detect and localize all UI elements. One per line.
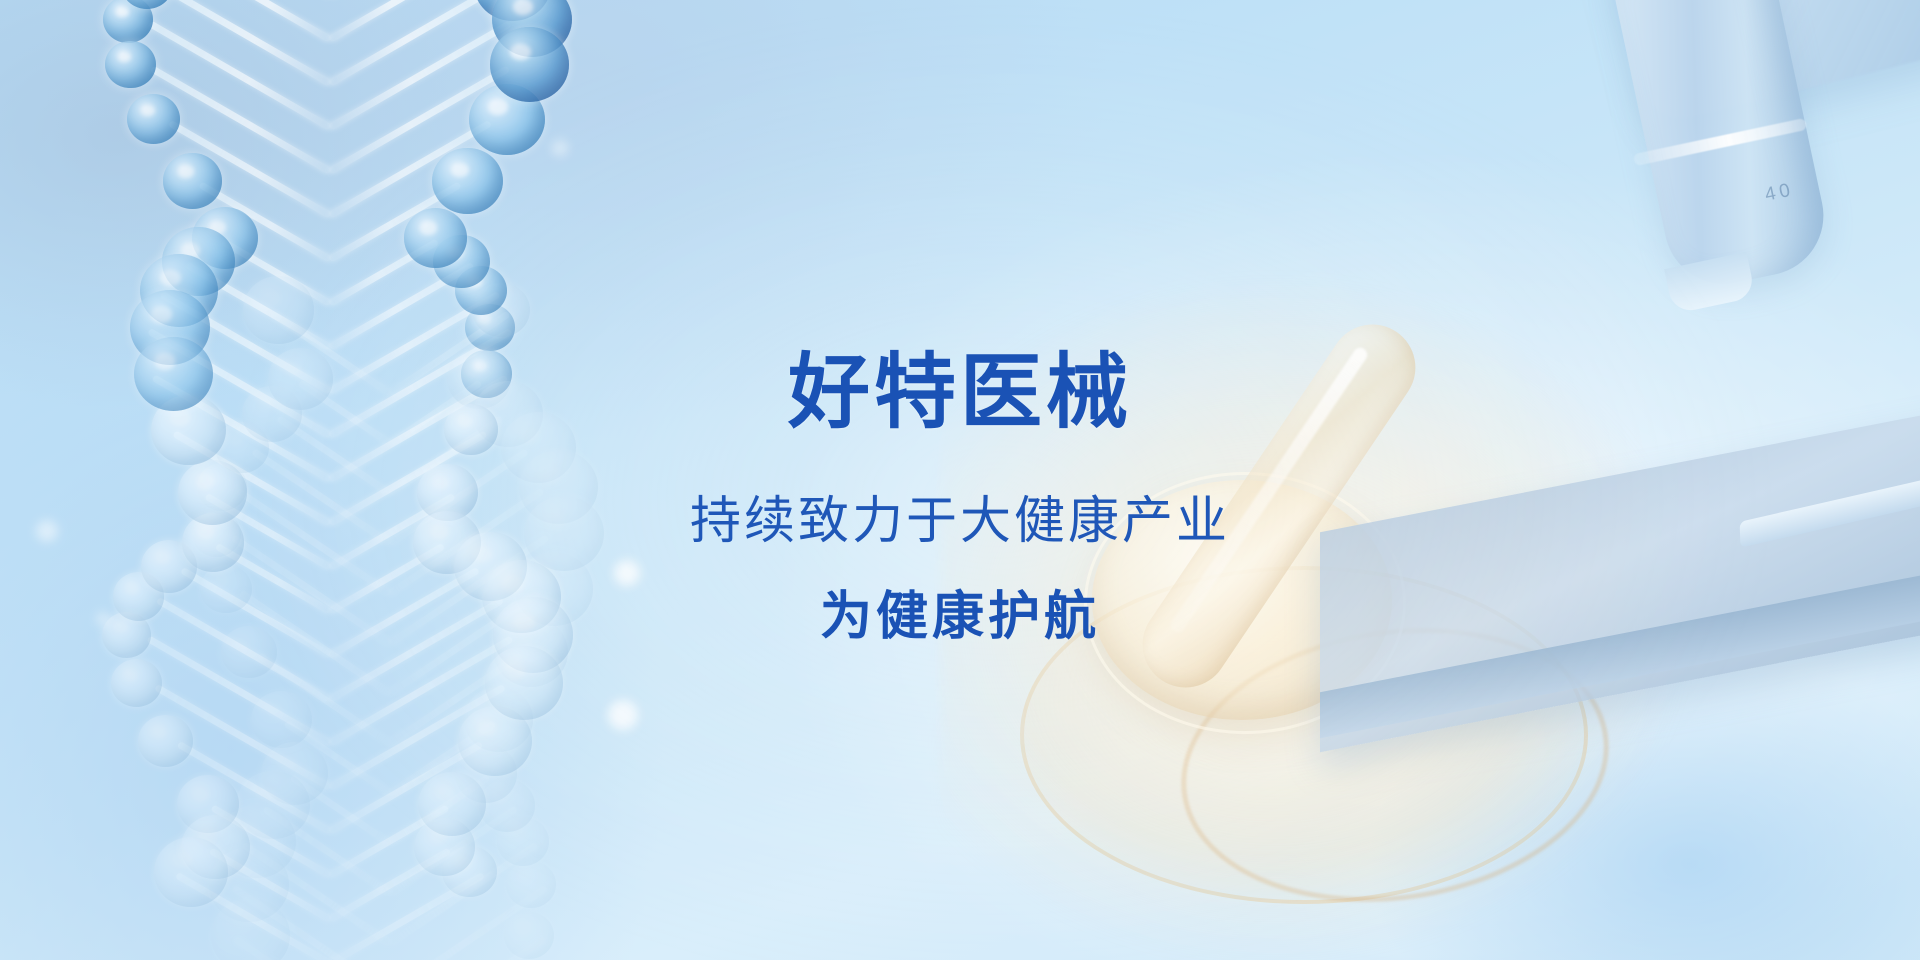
dna-bead bbox=[404, 208, 467, 268]
dna-bead bbox=[490, 27, 569, 102]
hero-banner: 40 好特医械 持续致力于大健康产业 为健康护航 bbox=[0, 0, 1920, 960]
dna-bead bbox=[243, 276, 315, 343]
dna-rung bbox=[328, 0, 469, 43]
bokeh-dot bbox=[552, 140, 568, 156]
hero-subtitle: 持续致力于大健康产业 bbox=[0, 496, 1920, 547]
hero-copy: 好特医械 持续致力于大健康产业 为健康护航 bbox=[0, 352, 1920, 643]
dna-bead bbox=[418, 772, 486, 836]
dna-rung bbox=[191, 0, 332, 43]
bokeh-dot bbox=[608, 700, 638, 730]
dna-bead bbox=[504, 912, 554, 959]
dna-bead bbox=[506, 861, 556, 908]
dna-bead bbox=[485, 646, 564, 720]
dna-bead bbox=[138, 715, 193, 767]
dna-bead bbox=[154, 837, 229, 907]
dna-bead bbox=[105, 41, 155, 88]
dna-bead bbox=[127, 94, 181, 144]
dna-bead bbox=[432, 148, 502, 214]
hero-tagline: 为健康护航 bbox=[0, 591, 1920, 643]
page-title: 好特医械 bbox=[0, 352, 1920, 434]
dna-bead bbox=[251, 691, 312, 748]
dna-bead bbox=[163, 153, 222, 209]
